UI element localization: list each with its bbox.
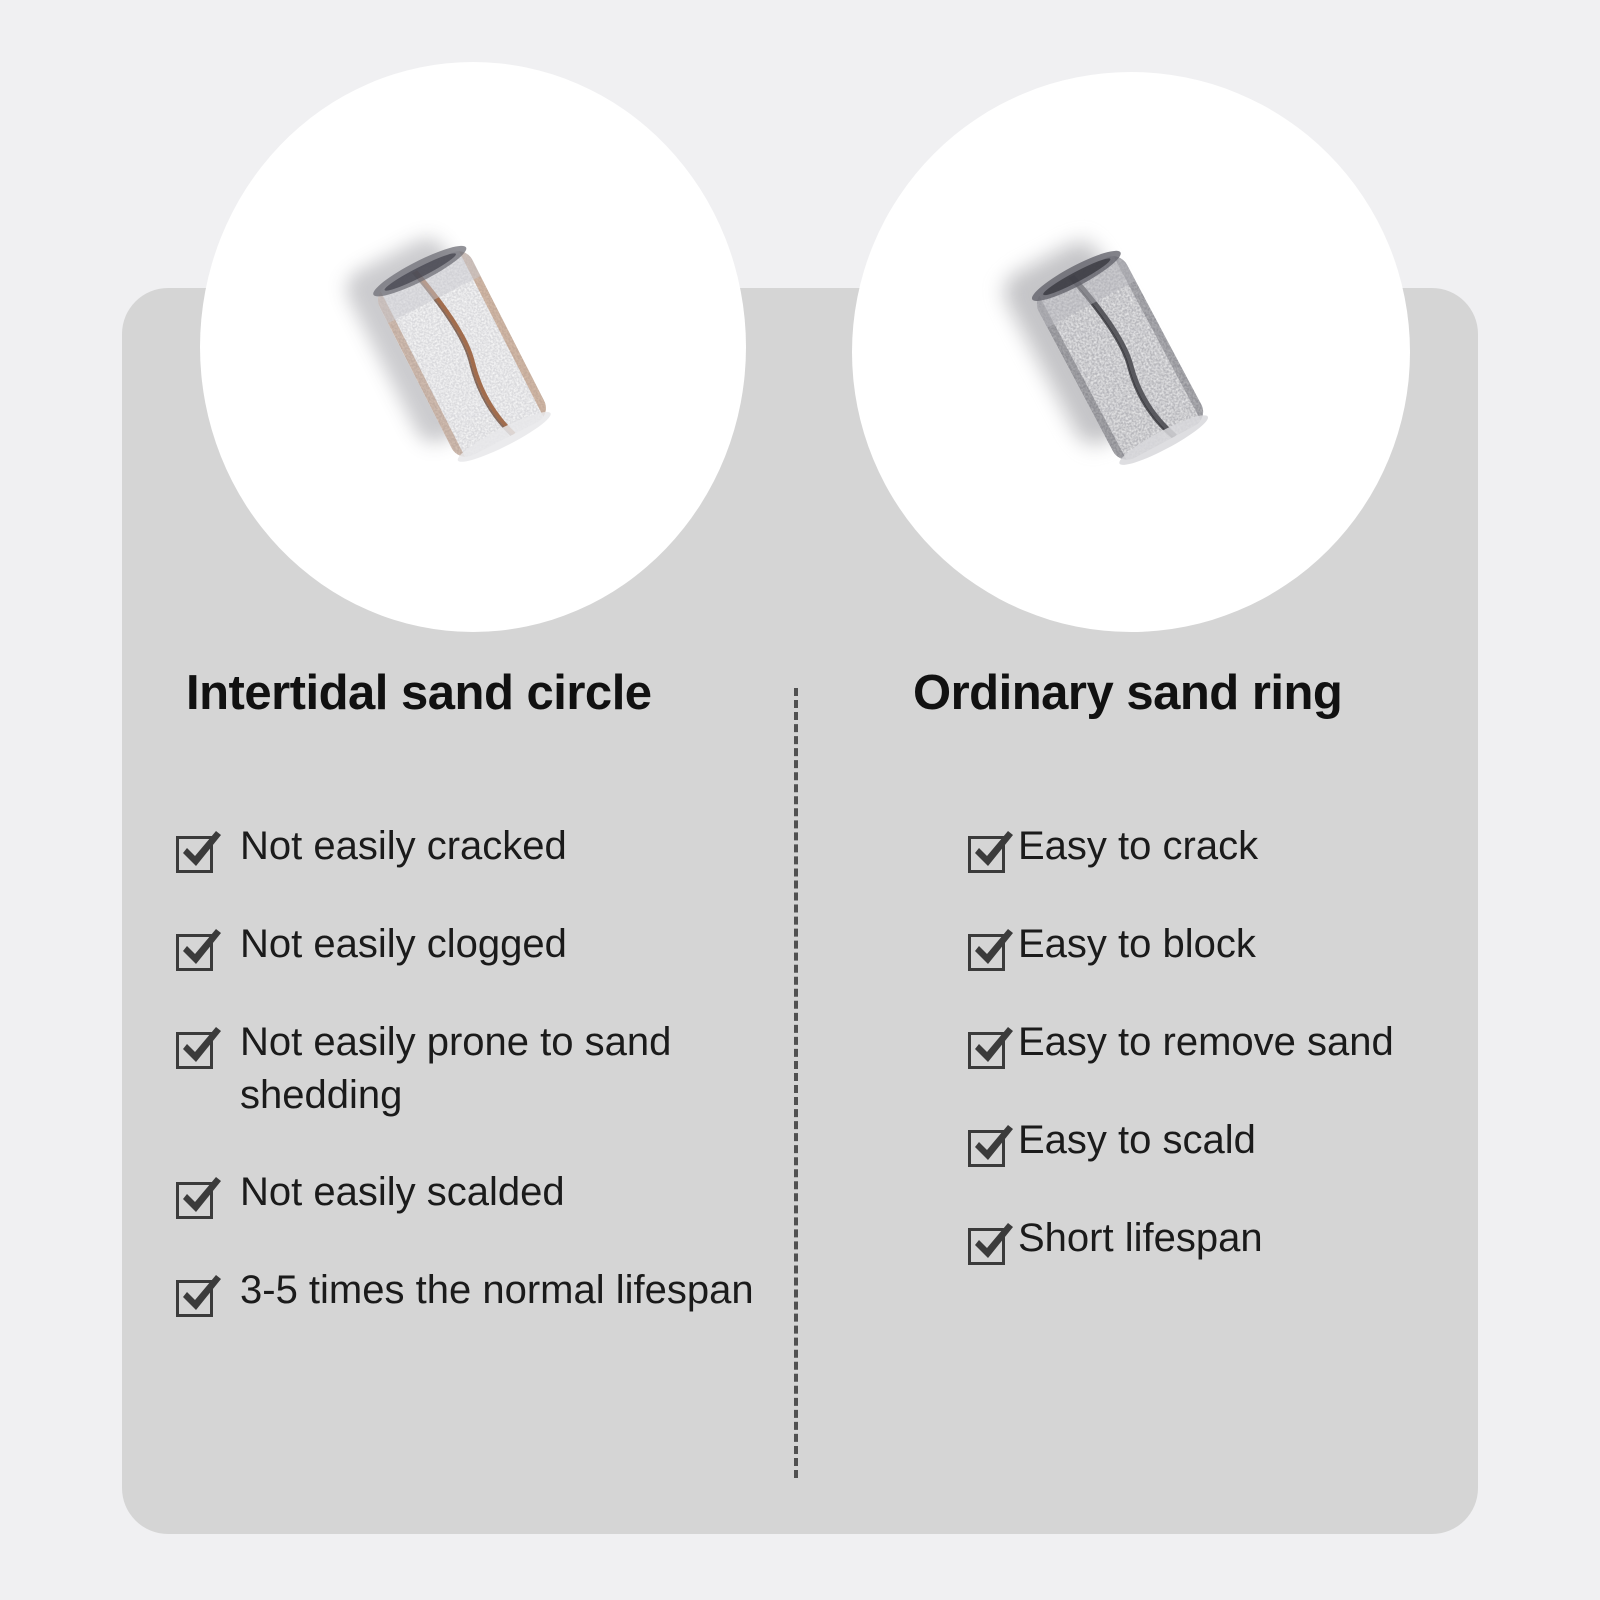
intertidal-sand-circle-photo — [200, 62, 746, 632]
list-item-label: Easy to scald — [1018, 1114, 1256, 1167]
checkbox-checked-icon — [176, 1026, 220, 1070]
list-item: Easy to crack — [968, 820, 1468, 874]
checkbox-checked-icon — [968, 830, 1012, 874]
feature-list-intertidal: Not easily cracked Not easily clogged No… — [176, 820, 776, 1362]
column-title-ordinary: Ordinary sand ring — [913, 665, 1342, 721]
list-item-label: Not easily cracked — [240, 820, 567, 873]
list-item: Not easily cracked — [176, 820, 776, 874]
list-item-label: Easy to crack — [1018, 820, 1258, 873]
list-item: Not easily scalded — [176, 1166, 776, 1220]
checkbox-checked-icon — [968, 1222, 1012, 1266]
sanding-ring-illustration-left — [200, 62, 746, 632]
list-item: Easy to block — [968, 918, 1468, 972]
column-title-intertidal: Intertidal sand circle — [186, 665, 652, 721]
column-divider — [794, 688, 798, 1478]
list-item-label: 3-5 times the normal lifespan — [240, 1264, 754, 1317]
checkbox-checked-icon — [176, 928, 220, 972]
sanding-ring-svg-left — [200, 62, 746, 632]
list-item-label: Short lifespan — [1018, 1212, 1263, 1265]
sanding-ring-svg-right — [852, 72, 1410, 632]
comparison-infographic: Intertidal sand circle Ordinary sand rin… — [0, 0, 1600, 1600]
list-item: Short lifespan — [968, 1212, 1468, 1266]
ordinary-sand-ring-photo — [852, 72, 1410, 632]
list-item: 3-5 times the normal lifespan — [176, 1264, 776, 1318]
checkbox-checked-icon — [176, 830, 220, 874]
checkbox-checked-icon — [968, 928, 1012, 972]
list-item-label: Not easily clogged — [240, 918, 567, 971]
list-item: Easy to remove sand — [968, 1016, 1468, 1070]
checkbox-checked-icon — [968, 1026, 1012, 1070]
checkbox-checked-icon — [968, 1124, 1012, 1168]
list-item: Not easily clogged — [176, 918, 776, 972]
sanding-ring-illustration-right — [852, 72, 1410, 632]
list-item-label: Easy to block — [1018, 918, 1256, 971]
checkbox-checked-icon — [176, 1176, 220, 1220]
list-item: Easy to scald — [968, 1114, 1468, 1168]
list-item-label: Not easily prone to sand shedding — [240, 1016, 776, 1122]
feature-list-ordinary: Easy to crack Easy to block Easy to remo… — [968, 820, 1468, 1310]
list-item-label: Not easily scalded — [240, 1166, 565, 1219]
checkbox-checked-icon — [176, 1274, 220, 1318]
list-item: Not easily prone to sand shedding — [176, 1016, 776, 1122]
list-item-label: Easy to remove sand — [1018, 1016, 1394, 1069]
